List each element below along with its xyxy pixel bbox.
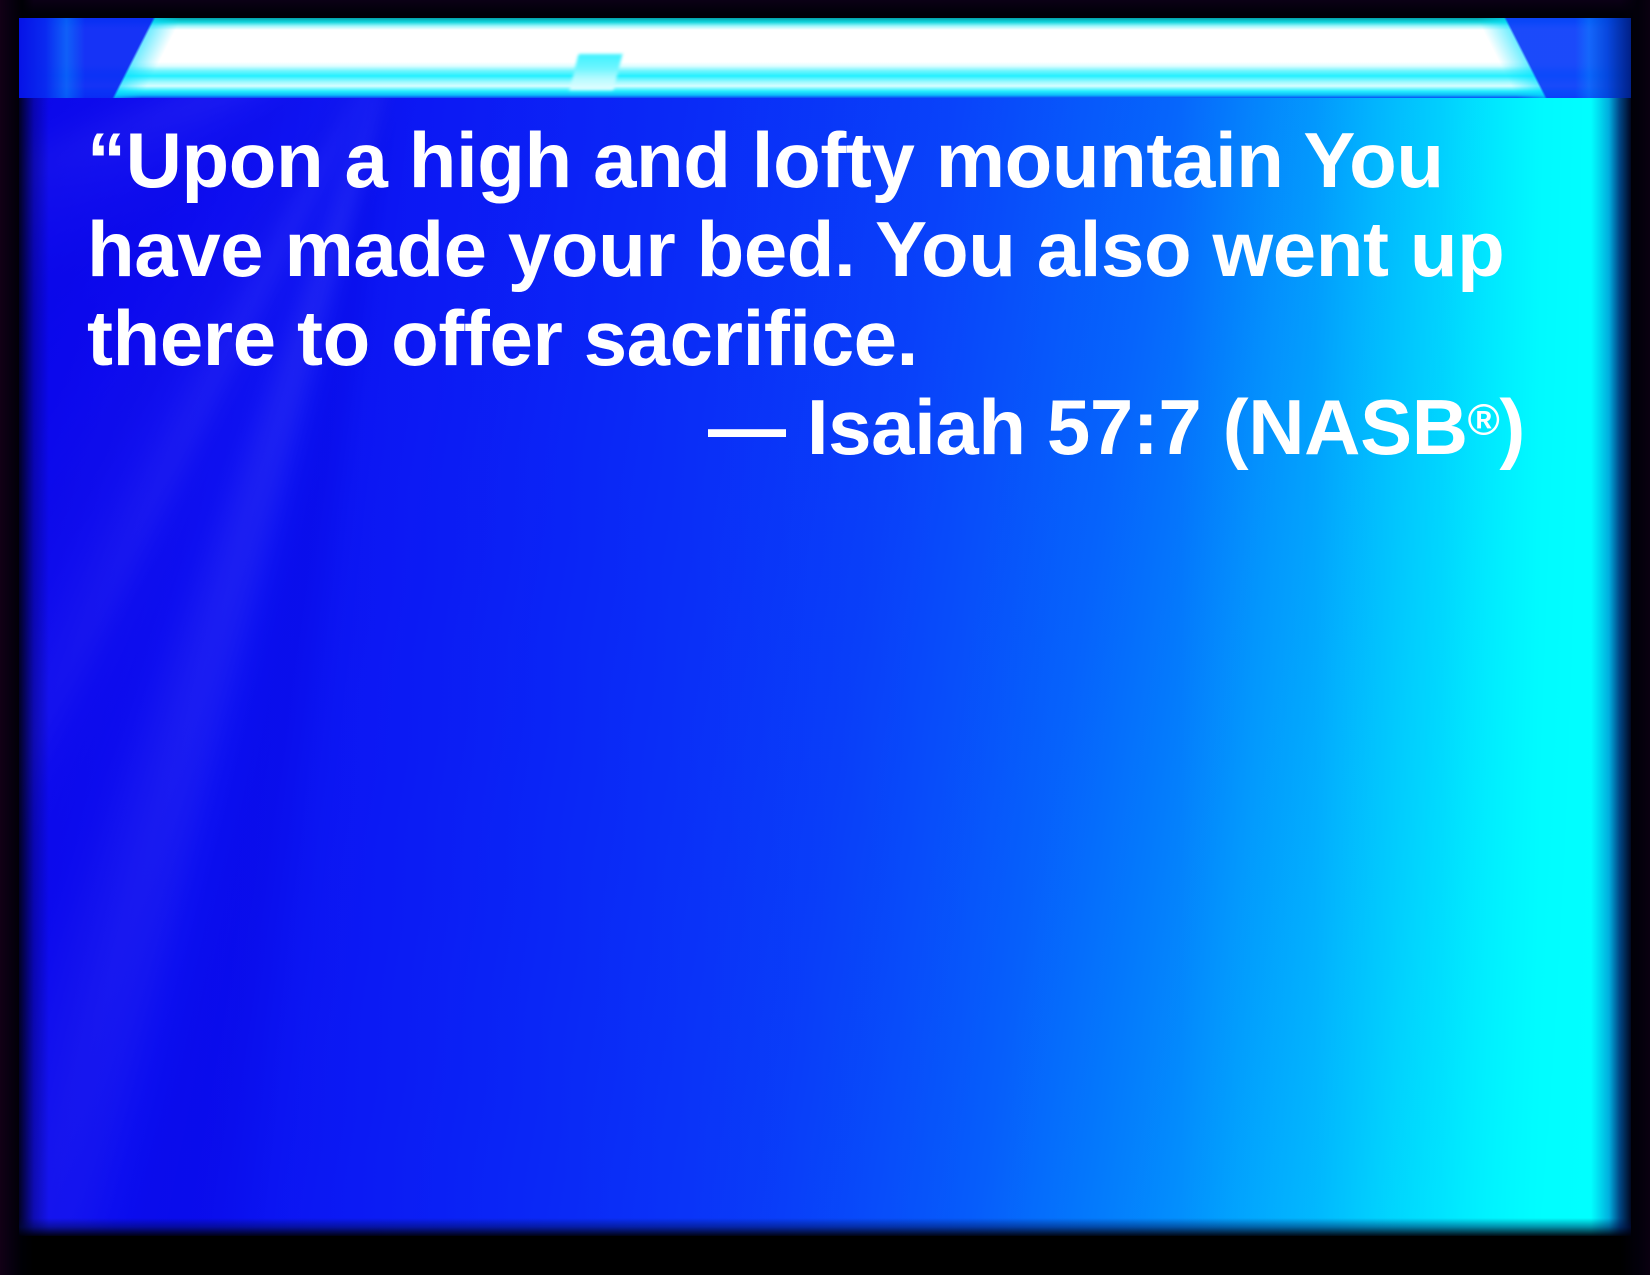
citation-reference: Isaiah 57:7 bbox=[807, 383, 1202, 471]
text-layer: “Upon a high and lofty mountain You have… bbox=[19, 18, 1631, 1236]
citation-translation-open: (NASB bbox=[1223, 383, 1468, 471]
citation-dash: — bbox=[708, 383, 786, 471]
slide-artwork: “Upon a high and lofty mountain You have… bbox=[19, 18, 1631, 1236]
verse-slide: “Upon a high and lofty mountain You have… bbox=[0, 0, 1650, 1275]
citation-translation-close: ) bbox=[1499, 383, 1525, 471]
registered-trademark-icon: ® bbox=[1468, 395, 1500, 444]
verse-citation: — Isaiah 57:7 (NASB®) bbox=[87, 383, 1525, 472]
verse-text: “Upon a high and lofty mountain You have… bbox=[87, 116, 1527, 383]
